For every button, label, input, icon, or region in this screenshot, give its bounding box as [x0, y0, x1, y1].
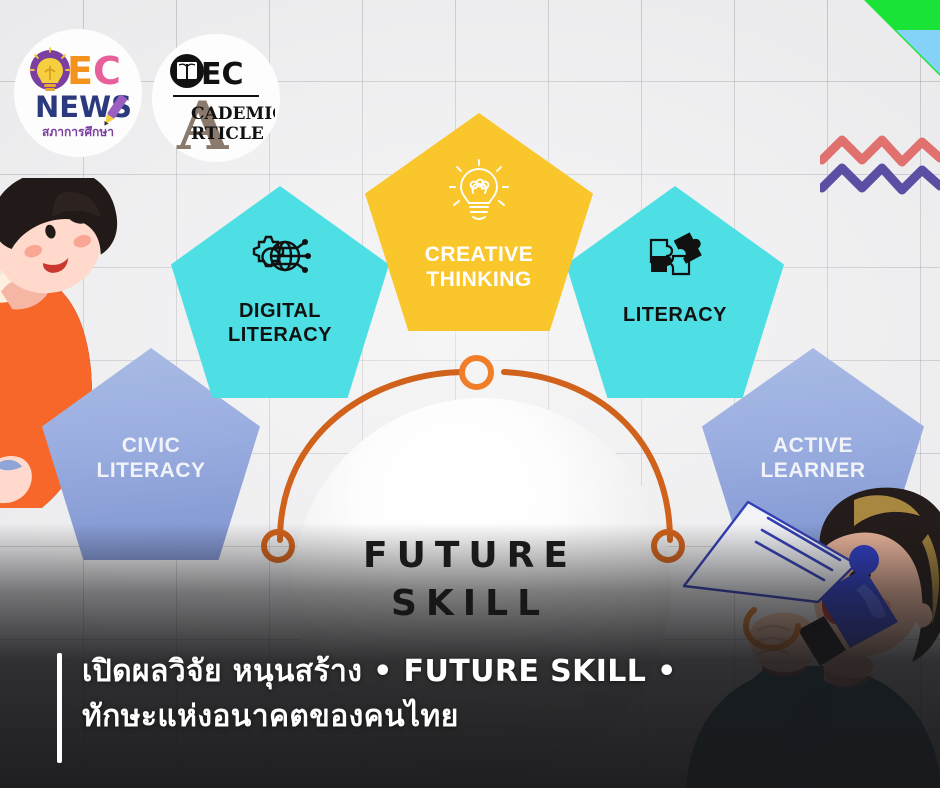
pentagon-label-line1: CIVIC: [97, 434, 206, 459]
lightbulb-icon: [449, 159, 509, 225]
svg-text:CADEMIC: CADEMIC: [191, 104, 275, 124]
pentagon-label-line2: THINKING: [425, 268, 534, 293]
globe-gear-icon: [249, 228, 311, 286]
pentagon-label-line1: DIGITAL: [228, 300, 332, 324]
headline-line1: เปิดผลวิจัย หนุนสร้าง • FUTURE SKILL •: [82, 649, 900, 695]
svg-text:E: E: [67, 49, 93, 93]
oec-news-logo-mark: E C NEWS สภาการศึกษา: [19, 34, 137, 152]
zigzag-lines-decoration: [820, 112, 940, 202]
pentagon-label-line1: LITERACY: [623, 304, 727, 328]
oec-news-logo[interactable]: E C NEWS สภาการศึกษา: [14, 29, 142, 157]
oec-academic-logo-mark: EC A CADEMIC RTICLE: [157, 39, 275, 157]
cyan-triangle-decoration: [896, 30, 940, 82]
pentagon-label-line2: LITERACY: [97, 459, 206, 484]
svg-text:C: C: [93, 49, 121, 93]
arc-ring-top: [459, 355, 494, 390]
svg-text:RTICLE: RTICLE: [191, 124, 264, 144]
headline-line2: ทักษะแห่งอนาคตของคนไทย: [82, 694, 900, 740]
svg-text:สภาการศึกษา: สภาการศึกษา: [42, 125, 114, 139]
open-book-icon: [177, 62, 197, 79]
infographic-canvas: CIVIC LITERACY ACTIVE LEARNER: [0, 0, 940, 788]
pentagon-label-line2: LITERACY: [228, 324, 332, 348]
puzzle-pieces-icon: [645, 228, 705, 284]
pentagon-label-line1: CREATIVE: [425, 243, 534, 268]
headline-block: เปิดผลวิจัย หนุนสร้าง • FUTURE SKILL • ท…: [82, 649, 900, 740]
headline-accent-bar: [57, 653, 62, 763]
oec-academic-article-logo[interactable]: EC A CADEMIC RTICLE: [152, 34, 280, 162]
